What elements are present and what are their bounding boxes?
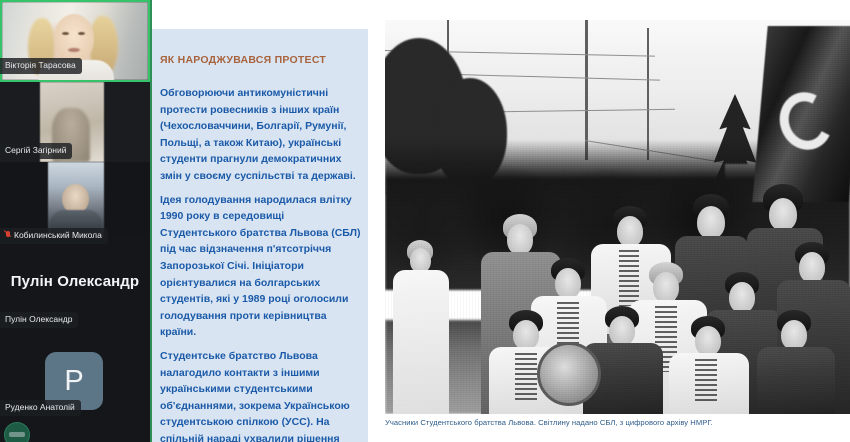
screen-root: Пулін Олександр Р Вікторія Тарасова Серг…: [0, 0, 850, 442]
participant-name-label: Руденко Анатолій: [5, 403, 75, 412]
slide-paragraph-3: Студентське братство Львова налагодило к…: [160, 348, 363, 442]
participant-name-badge-1: Вікторія Тарасова: [0, 58, 82, 74]
slide-body-text: Обговорюючи антикомуністичні протести ро…: [160, 85, 363, 442]
participant-name-label: Сергій Загірний: [5, 146, 66, 155]
video-tile-participant-3[interactable]: [0, 162, 150, 238]
shared-slide: ЯК НАРОДЖУВАВСЯ ПРОТЕСТ Обговорюючи анти…: [150, 0, 850, 442]
video-participant-rail: Пулін Олександр Р Вікторія Тарасова Серг…: [0, 0, 150, 442]
video-feed-detail: [62, 32, 69, 35]
photo-caption: Учасники Студентського братства Львова. …: [385, 418, 850, 427]
avatar-initial: Р: [64, 365, 83, 398]
participant-name-label: Вікторія Тарасова: [5, 61, 76, 70]
historical-photograph: [385, 20, 850, 414]
participant-name-label: Пулін Олександр: [5, 315, 72, 324]
participant-name-badge-2: Сергій Загірний: [0, 143, 72, 159]
slide-paragraph-2: Ідея голодування народилася влітку 1990 …: [160, 192, 363, 341]
video-feed-detail: [54, 14, 94, 62]
slide-title: ЯК НАРОДЖУВАВСЯ ПРОТЕСТ: [160, 54, 360, 66]
photo-pole: [585, 20, 588, 160]
video-feed-detail: [78, 32, 85, 35]
slide-paragraph-1: Обговорюючи антикомуністичні протести ро…: [160, 85, 363, 185]
presenter-name-large: Пулін Олександр: [0, 273, 150, 290]
meeting-control-label: [9, 432, 25, 437]
participant-name-label: Кобилинський Микола: [14, 231, 102, 240]
slide-photo: [385, 20, 850, 414]
mic-muted-icon: [5, 231, 11, 240]
video-feed-detail: [68, 48, 80, 52]
photo-drum: [537, 342, 601, 406]
participant-name-badge-3: Кобилинський Микола: [0, 228, 108, 244]
slide-text-panel: ЯК НАРОДЖУВАВСЯ ПРОТЕСТ Обговорюючи анти…: [152, 29, 368, 442]
participant-name-badge-5: Руденко Анатолій: [0, 400, 81, 416]
participant-name-badge-4: Пулін Олександр: [0, 312, 78, 328]
